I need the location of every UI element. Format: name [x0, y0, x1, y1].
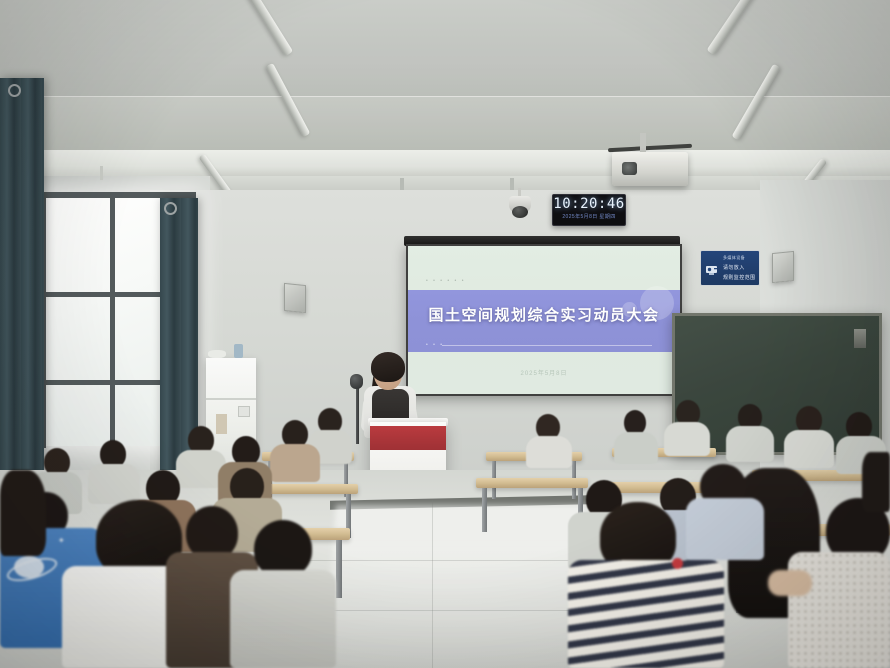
cabinet-label [216, 414, 227, 434]
digital-clock: 10:20:46 2025年5月8日 星期四 [552, 194, 626, 226]
ceiling-projector [612, 152, 688, 186]
student-hair [862, 452, 890, 512]
floor-tile-line [300, 560, 600, 561]
cabinet-notice [238, 406, 250, 417]
shirt-red-button [672, 558, 683, 569]
student-torso [270, 444, 320, 482]
classroom-photo: 10:20:46 2025年5月8日 星期四 多媒体设备 请勿放入 规则监控范围… [0, 0, 890, 668]
microphone-icon [350, 374, 363, 389]
projector-lens [622, 162, 637, 175]
desk-leg [482, 488, 487, 532]
patterned-blouse-student [788, 552, 890, 668]
slide-title: 国土空间规划综合实习动员大会 [408, 304, 680, 325]
curtain-ring [164, 202, 177, 215]
curtain-ring [8, 84, 21, 97]
presenter-hair [371, 352, 405, 382]
student-torso [784, 430, 834, 468]
tee-planet-graphic [14, 556, 44, 578]
camera-dome-icon [512, 206, 528, 218]
curtain-left[interactable] [0, 78, 44, 498]
microphone-stand [356, 382, 359, 444]
curtain-rail-bracket [100, 166, 103, 180]
chalk-tray [854, 329, 866, 348]
cabinet-top-bowl [208, 350, 226, 358]
cabinet-divider [206, 398, 256, 400]
wall-speaker-left [284, 283, 306, 313]
sign-line-3: 规则监控范围 [723, 274, 755, 281]
sign-line-2: 请勿放入 [723, 264, 745, 271]
student-torso [614, 432, 658, 464]
desk-leg [336, 540, 342, 598]
floor-reflection [324, 505, 585, 668]
projection-screen: • • • • • • 国土空间规划综合实习动员大会 • • • 2025年5月… [406, 244, 682, 396]
student-torso [88, 464, 140, 504]
projector-icon [705, 262, 721, 276]
student-desk [476, 478, 588, 488]
cabinet-top-bottle [234, 344, 243, 358]
clock-time: 10:20:46 [553, 196, 625, 212]
student-arm [768, 570, 812, 596]
floor-tile-line [432, 500, 433, 668]
slide-rule [442, 345, 652, 346]
student-torso [526, 436, 572, 468]
window-mullion [110, 196, 115, 446]
student-torso [726, 426, 774, 462]
student-hair [0, 470, 46, 556]
slide: • • • • • • 国土空间规划综合实习动员大会 • • • 2025年5月… [408, 246, 680, 394]
slide-decoration-dots: • • • • • • [426, 278, 465, 284]
student-torso [664, 422, 710, 456]
slide-date: 2025年5月8日 [408, 368, 680, 377]
tee-star-icon: ✦ [58, 536, 65, 545]
striped-shirt-student [568, 560, 724, 668]
wall-notice-sign: 多媒体设备 请勿放入 规则监控范围 [700, 250, 760, 286]
clock-date: 2025年5月8日 星期四 [553, 213, 625, 220]
student-torso [686, 498, 764, 560]
podium-red-band [370, 426, 446, 450]
sign-line-1: 多媒体设备 [723, 255, 745, 261]
wall-speaker-right [772, 251, 794, 283]
student-torso [230, 570, 336, 668]
